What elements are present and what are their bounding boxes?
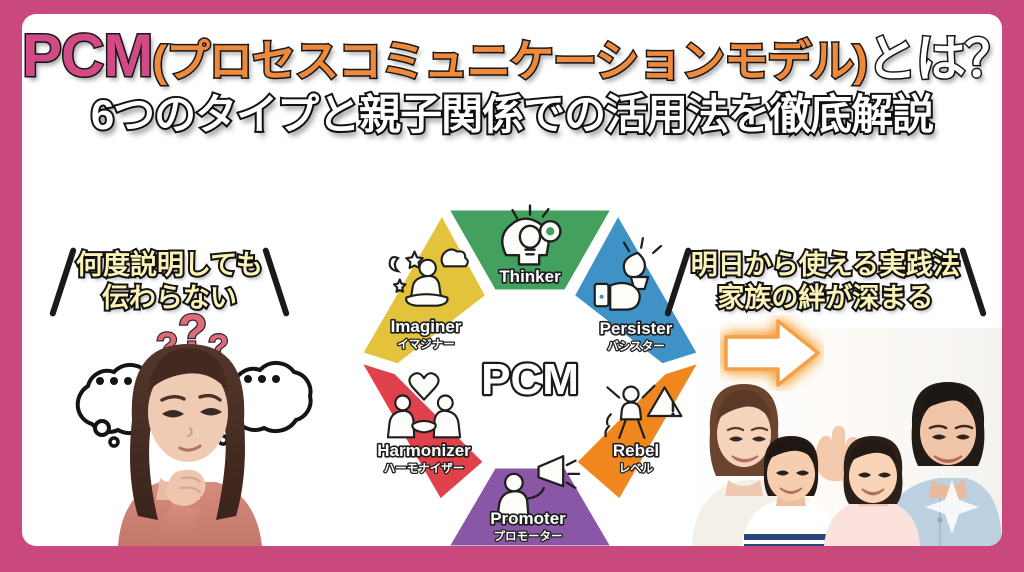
slash-mark-left — [49, 247, 77, 317]
catch-left-line-1: 何度説明しても — [76, 249, 263, 282]
right-arrow-icon — [720, 315, 824, 396]
pcm-hexagon-diagram: Thinker Persister バシスター — [344, 194, 716, 546]
hex-label-promoter-jp: プロモーター — [494, 529, 563, 543]
title-line-1: PCM(プロセスコミュニケーションモデル)とは？ — [22, 26, 1002, 86]
hex-label-promoter-en: Promoter — [490, 509, 566, 528]
poster-canvas: PCM(プロセスコミュニケーションモデル)とは？ 6つのタイプと親子関係での活用… — [0, 0, 1024, 572]
hex-segment-harmonizer[interactable]: Harmonizer ハーモナイザー — [358, 360, 486, 502]
catch-copy-right: 明日から使える実践法 家族の絆が深まる — [675, 246, 976, 318]
poster-inner-panel: PCM(プロセスコミュニケーションモデル)とは？ 6つのタイプと親子関係での活用… — [22, 14, 1002, 546]
hex-label-persister-jp: バシスター — [607, 339, 665, 353]
hex-label-imaginer-en: Imaginer — [391, 317, 462, 336]
title-tail-text: とは？ — [867, 31, 1002, 87]
catch-right-line-1: 明日から使える実践法 — [691, 249, 960, 282]
hex-label-imaginer-jp: イマジナー — [397, 338, 455, 351]
slash-mark-right-2 — [959, 247, 987, 317]
title-line-2: 6つのタイプと親子関係での活用法を徹底解説 — [22, 94, 1002, 136]
catch-copy-left: 何度説明しても 伝わらない — [60, 246, 279, 318]
hex-center-label: PCM — [481, 355, 579, 404]
headline-block: PCM(プロセスコミュニケーションモデル)とは？ 6つのタイプと親子関係での活用… — [22, 26, 1002, 136]
hex-label-harmonizer-en: Harmonizer — [377, 441, 471, 460]
hex-label-harmonizer-jp: ハーモナイザー — [384, 462, 465, 475]
catch-right-line-2: 家族の絆が深まる — [691, 282, 960, 315]
title-paren-text: (プロセスコミュニケーションモデル) — [152, 37, 866, 86]
hex-label-rebel-jp: レベル — [619, 462, 654, 475]
hex-segment-rebel[interactable]: Rebel レベル — [574, 360, 702, 502]
catch-left-line-2: 伝わらない — [76, 282, 263, 315]
hex-label-thinker-en: Thinker — [499, 267, 561, 286]
hex-label-persister-en: Persister — [600, 319, 673, 338]
slash-mark-right — [262, 247, 290, 317]
worried-woman-photo: ? ? ? — [56, 296, 332, 546]
title-pcm-word: PCM — [22, 22, 152, 89]
hex-label-rebel-en: Rebel — [613, 441, 659, 460]
